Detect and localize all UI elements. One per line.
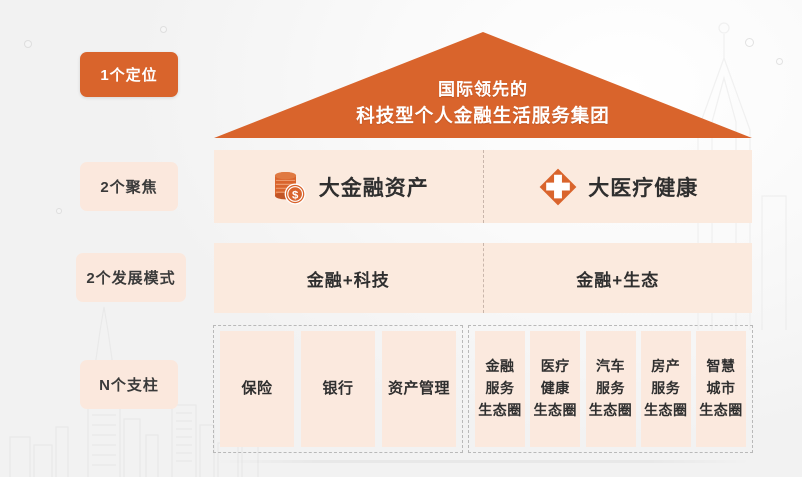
pillar-group-financial: 保险 银行 资产管理 — [213, 325, 463, 453]
focus-cell-financial-assets[interactable]: $ 大金融资产 — [214, 150, 484, 223]
focus-label-healthcare: 大医疗健康 — [588, 172, 698, 202]
pillar-label: 金融 服务 生态圈 — [478, 356, 522, 421]
pillar-item[interactable]: 银行 — [301, 331, 375, 447]
level-label-text: 1个定位 — [100, 64, 157, 85]
pillar-item[interactable]: 医疗 健康 生态圈 — [530, 331, 580, 447]
focus-label-financial-assets: 大金融资产 — [319, 172, 429, 202]
roof-title-line1: 国际领先的 — [214, 77, 752, 103]
pillar-item[interactable]: 金融 服务 生态圈 — [475, 331, 525, 447]
pillar-label: 资产管理 — [388, 377, 450, 400]
house-baseline — [214, 460, 752, 463]
sparkle-decoration — [776, 58, 783, 65]
pillar-item[interactable]: 智慧 城市 生态圈 — [696, 331, 746, 447]
sparkle-decoration — [56, 208, 62, 214]
level-label-text: N个支柱 — [99, 374, 159, 395]
focus-band: $ 大金融资产 大医疗健康 — [214, 150, 752, 223]
roof-title-line2: 科技型个人金融生活服务集团 — [214, 102, 752, 130]
medical-cross-diamond-icon — [537, 166, 579, 208]
level-label-positioning[interactable]: 1个定位 — [80, 52, 178, 97]
pillar-label: 智慧 城市 生态圈 — [699, 356, 743, 421]
infographic-canvas: 1个定位 2个聚焦 2个发展模式 N个支柱 国际领先的 科技型个人金融生活服务集… — [0, 0, 802, 477]
level-label-pillars[interactable]: N个支柱 — [80, 360, 178, 409]
house-roof: 国际领先的 科技型个人金融生活服务集团 — [214, 32, 752, 138]
level-label-development-modes[interactable]: 2个发展模式 — [76, 253, 186, 302]
pillar-item[interactable]: 汽车 服务 生态圈 — [586, 331, 636, 447]
sparkle-decoration — [160, 26, 167, 33]
pillar-item[interactable]: 保险 — [220, 331, 294, 447]
pillar-label: 汽车 服务 生态圈 — [589, 356, 633, 421]
mode-cell-fintech[interactable]: 金融+科技 — [214, 243, 484, 313]
pillar-label: 房产 服务 生态圈 — [644, 356, 688, 421]
coin-stack-dollar-icon: $ — [268, 166, 310, 208]
mode-label-ecosystem: 金融+生态 — [576, 266, 659, 291]
level-label-text: 2个发展模式 — [86, 267, 175, 288]
pillar-item[interactable]: 房产 服务 生态圈 — [641, 331, 691, 447]
focus-cell-healthcare[interactable]: 大医疗健康 — [484, 150, 753, 223]
pillar-label: 保险 — [241, 377, 272, 400]
svg-text:$: $ — [292, 189, 299, 201]
mode-band: 金融+科技 金融+生态 — [214, 243, 752, 313]
sparkle-decoration — [24, 40, 32, 48]
mode-cell-ecosystem[interactable]: 金融+生态 — [484, 243, 753, 313]
pillar-label: 医疗 健康 生态圈 — [534, 356, 578, 421]
pillar-item[interactable]: 资产管理 — [382, 331, 456, 447]
pillar-group-ecosystem: 金融 服务 生态圈 医疗 健康 生态圈 汽车 服务 生态圈 房产 服务 生态圈 … — [468, 325, 753, 453]
level-label-focus[interactable]: 2个聚焦 — [80, 162, 178, 211]
mode-label-fintech: 金融+科技 — [307, 266, 390, 291]
level-label-text: 2个聚焦 — [100, 176, 157, 197]
roof-title: 国际领先的 科技型个人金融生活服务集团 — [214, 77, 752, 130]
pillar-label: 银行 — [322, 377, 353, 400]
